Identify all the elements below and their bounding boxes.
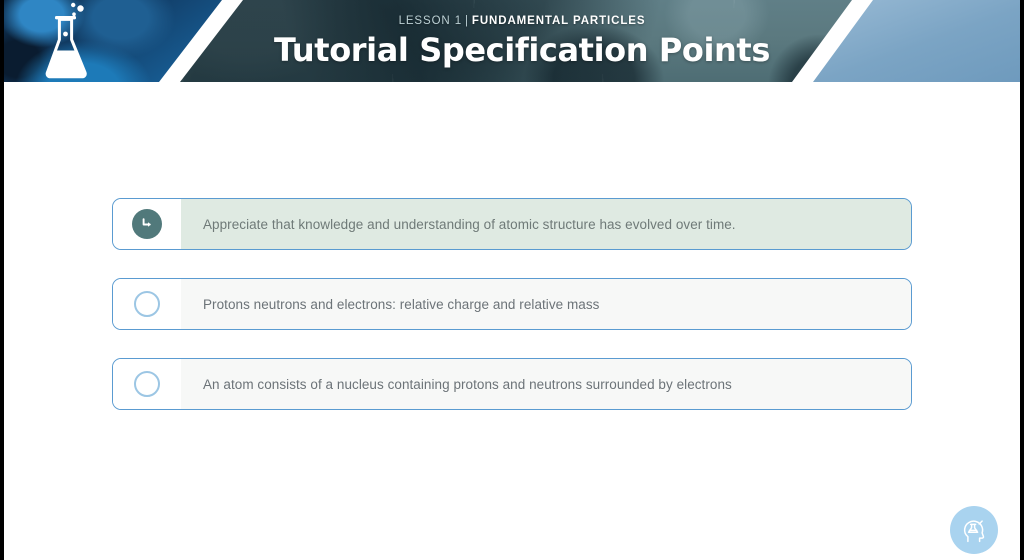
- slide-stage: LESSON 1|FUNDAMENTAL PARTICLES Tutorial …: [0, 0, 1024, 560]
- left-edge-rail: [0, 0, 4, 560]
- lesson-number: LESSON 1: [399, 15, 462, 27]
- spec-point-text: Appreciate that knowledge and understand…: [181, 199, 911, 249]
- page-title: Tutorial Specification Points: [274, 34, 770, 66]
- banner-text-block: LESSON 1|FUNDAMENTAL PARTICLES Tutorial …: [252, 0, 792, 82]
- spec-marker-cell: [113, 279, 181, 329]
- circle-outline-icon: [134, 371, 160, 397]
- specification-points-list: Appreciate that knowledge and understand…: [112, 198, 912, 410]
- spec-point-row[interactable]: Protons neutrons and electrons: relative…: [112, 278, 912, 330]
- right-edge-rail: [1020, 0, 1024, 560]
- eyebrow-separator: |: [462, 15, 472, 27]
- spec-point-row[interactable]: Appreciate that knowledge and understand…: [112, 198, 912, 250]
- arrow-turn-down-right-icon: [132, 209, 162, 239]
- spec-point-row[interactable]: An atom consists of a nucleus containing…: [112, 358, 912, 410]
- head-with-flask-icon[interactable]: [950, 506, 998, 554]
- header-banner: LESSON 1|FUNDAMENTAL PARTICLES Tutorial …: [0, 0, 1024, 82]
- lesson-topic: FUNDAMENTAL PARTICLES: [472, 15, 646, 27]
- spec-marker-cell: [113, 359, 181, 409]
- spec-point-text: An atom consists of a nucleus containing…: [181, 359, 911, 409]
- circle-outline-icon: [134, 291, 160, 317]
- spec-point-text: Protons neutrons and electrons: relative…: [181, 279, 911, 329]
- slide-body: Appreciate that knowledge and understand…: [4, 82, 1020, 560]
- spec-marker-cell: [113, 199, 181, 249]
- lesson-eyebrow: LESSON 1|FUNDAMENTAL PARTICLES: [399, 16, 646, 28]
- flask-icon: [38, 2, 100, 82]
